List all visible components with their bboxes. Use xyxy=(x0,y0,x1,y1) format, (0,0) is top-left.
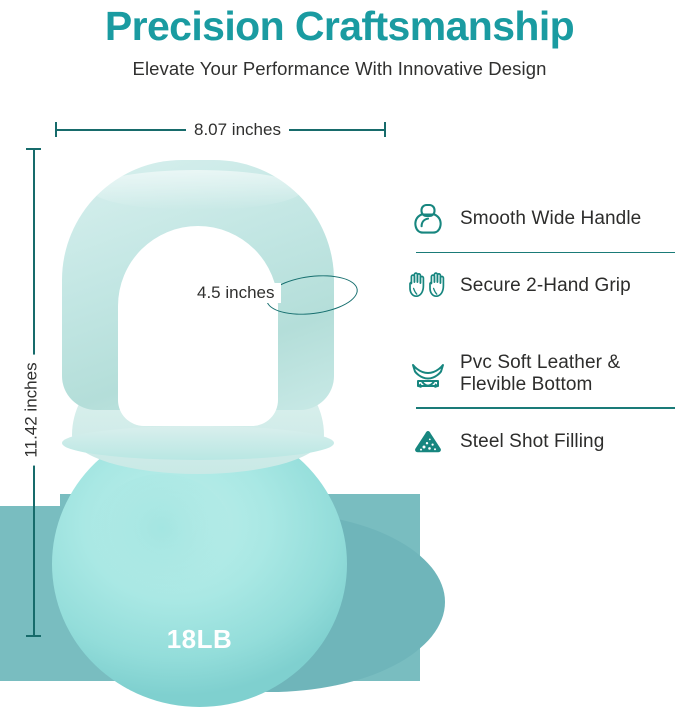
feature-list: Smooth Wide Handle xyxy=(408,186,679,475)
feature-item-smooth-wide-handle[interactable]: Smooth Wide Handle xyxy=(408,186,679,252)
feature-label: Steel Shot Filling xyxy=(460,431,604,453)
feature-item-secure-2-hand-grip[interactable]: Secure 2-Hand Grip xyxy=(408,253,679,319)
kettlebell-handle-highlight xyxy=(92,170,302,210)
weight-label: 18LB xyxy=(52,624,347,655)
leather-flexible-bottom-icon xyxy=(408,354,448,394)
kettlebell-body-highlight xyxy=(92,474,232,594)
height-dimension-cap-top xyxy=(26,148,41,150)
product-illustration: 18LB xyxy=(0,104,420,681)
feature-label: Smooth Wide Handle xyxy=(460,208,641,230)
kettlebell-icon xyxy=(408,199,448,239)
feature-item-steel-shot-filling[interactable]: Steel Shot Filling xyxy=(408,409,679,475)
two-hands-icon xyxy=(408,266,448,306)
feature-label: Secure 2-Hand Grip xyxy=(460,275,631,297)
header: Precision Craftsmanship Elevate Your Per… xyxy=(0,0,679,80)
floor-notch xyxy=(0,494,60,506)
steel-shot-pile-icon xyxy=(408,422,448,462)
kettlebell-handle-cutout xyxy=(118,226,278,426)
kettlebell-seam xyxy=(62,426,334,460)
feature-item-pvc-soft-leather-flexible-bottom[interactable]: Pvc Soft Leather & Flevible Bottom xyxy=(408,341,679,407)
width-dimension-label: 8.07 inches xyxy=(186,120,289,140)
height-dimension-cap-bottom xyxy=(26,635,41,637)
grip-dimension-label: 4.5 inches xyxy=(191,283,281,303)
feature-spacer xyxy=(408,319,679,341)
feature-label: Pvc Soft Leather & Flevible Bottom xyxy=(460,352,620,397)
width-dimension-cap-right xyxy=(384,122,386,137)
page-title: Precision Craftsmanship xyxy=(0,6,679,47)
height-dimension-label: 11.42 inches xyxy=(22,354,42,465)
width-dimension-cap-left xyxy=(55,122,57,137)
page-subtitle: Elevate Your Performance With Innovative… xyxy=(0,58,679,80)
